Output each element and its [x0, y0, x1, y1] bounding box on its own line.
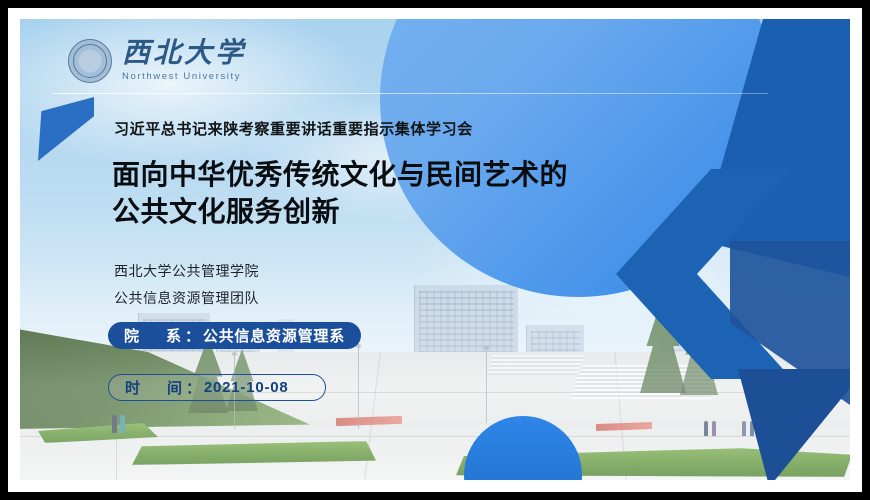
title-slide: 西北大学 Northwest University 习近平总书记来陕考察重要讲话…	[20, 19, 850, 480]
affiliation-line-1: 西北大学公共管理学院	[114, 258, 259, 285]
university-wordmark: 西北大学 Northwest University	[122, 40, 246, 82]
date-badge-value: 2021-10-08	[204, 379, 289, 396]
pedestrian-3	[704, 421, 708, 436]
pedestrian-4	[712, 421, 716, 436]
department-badge-separator: ：	[185, 325, 201, 346]
pedestrian-6	[750, 421, 754, 436]
street-lamp-3	[486, 349, 487, 423]
slide-title: 面向中华优秀传统文化与民间艺术的 公共文化服务创新	[112, 156, 568, 230]
slide-affiliation: 西北大学公共管理学院 公共信息资源管理团队	[114, 258, 259, 313]
wordmark-english: Northwest University	[122, 72, 246, 82]
affiliation-line-2: 公共信息资源管理团队	[114, 285, 259, 312]
wordmark-chinese: 西北大学	[122, 40, 246, 68]
slide-eyebrow-text: 习近平总书记来陕考察重要讲话重要指示集体学习会	[114, 118, 473, 139]
department-badge: 院 系 ： 公共信息资源管理系	[108, 322, 361, 349]
slide-paper-margin: 西北大学 Northwest University 习近平总书记来陕考察重要讲话…	[8, 8, 862, 492]
screenshot-frame: 西北大学 Northwest University 习近平总书记来陕考察重要讲话…	[0, 0, 870, 500]
pedestrian-2	[120, 415, 125, 433]
pedestrian-1	[112, 415, 117, 433]
university-seal-icon	[68, 39, 112, 83]
slide-title-line-2: 公共文化服务创新	[112, 193, 568, 230]
department-badge-key: 院 系	[124, 325, 187, 346]
slide-title-line-1: 面向中华优秀传统文化与民间艺术的	[112, 156, 568, 193]
plaza-stairs-upper	[487, 355, 585, 375]
department-badge-value: 公共信息资源管理系	[203, 325, 345, 346]
street-lamp-2	[358, 347, 359, 429]
date-badge-separator: ：	[186, 377, 202, 398]
pedestrian-5	[742, 421, 746, 436]
date-badge-key: 时 间	[125, 377, 188, 398]
date-badge: 时 间 ： 2021-10-08	[108, 374, 326, 401]
university-logo: 西北大学 Northwest University	[68, 39, 246, 83]
